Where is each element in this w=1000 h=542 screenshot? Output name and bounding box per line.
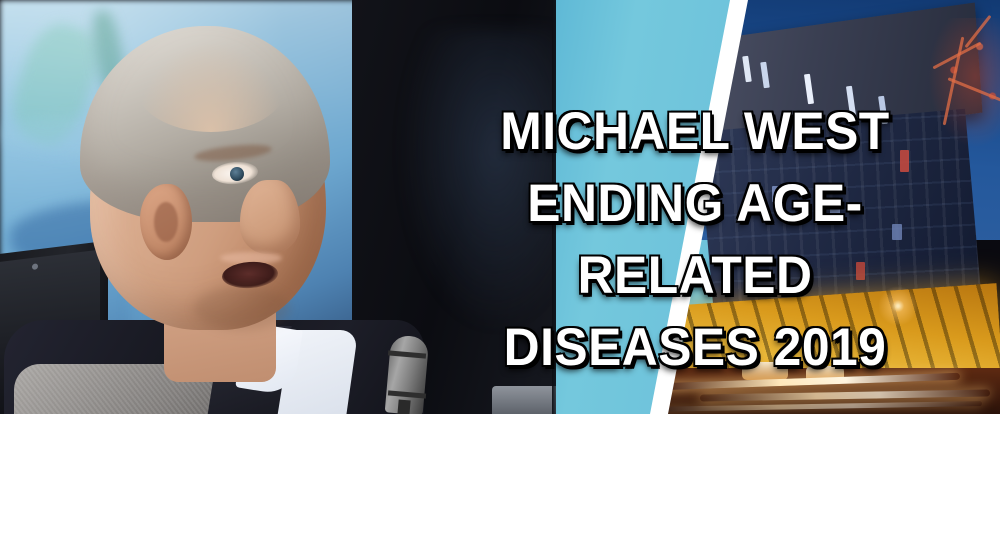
speaker-portrait — [44, 34, 374, 414]
nose — [240, 180, 300, 254]
pupil — [230, 167, 244, 181]
inner-ear — [154, 202, 178, 242]
forehead — [136, 42, 286, 132]
microphone-stand — [397, 400, 410, 414]
thumbnail-title: MICHAEL WEST ENDING AGE-RELATED DISEASES… — [430, 96, 960, 384]
logo-footer: lifespan.io — [0, 414, 1000, 542]
title-line-3: DISEASES 2019 — [446, 312, 944, 384]
chin-shadow — [194, 286, 290, 330]
video-thumbnail-card: MICHAEL WEST ENDING AGE-RELATED DISEASES… — [0, 0, 1000, 542]
photo-band: MICHAEL WEST ENDING AGE-RELATED DISEASES… — [0, 0, 1000, 414]
title-line-1: MICHAEL WEST — [446, 96, 944, 168]
title-line-2: ENDING AGE-RELATED — [446, 168, 944, 312]
